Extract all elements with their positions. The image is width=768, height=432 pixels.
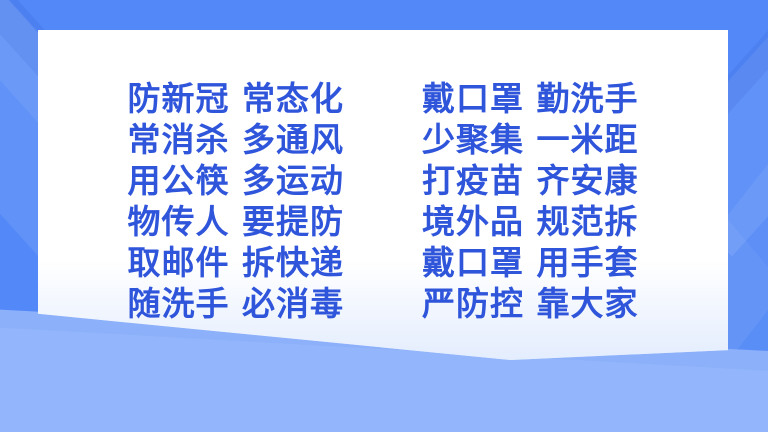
slogan-line: 取邮件 拆快递: [128, 242, 345, 283]
slogan-line: 物传人 要提防: [128, 201, 345, 242]
slogan-line: 少聚集 一米距: [422, 119, 639, 160]
slogan-line: 严防控 靠大家: [422, 283, 639, 324]
slogan-line: 境外品 规范拆: [422, 201, 639, 242]
slogan-line: 随洗手 必消毒: [128, 283, 345, 324]
slogan-line: 戴口罩 勤洗手: [422, 78, 639, 119]
slogan-line: 戴口罩 用手套: [422, 242, 639, 283]
poster-canvas: 防新冠 常态化 常消杀 多通风 用公筷 多运动 物传人 要提防 取邮件 拆快递 …: [0, 0, 768, 432]
slogan-grid: 防新冠 常态化 常消杀 多通风 用公筷 多运动 物传人 要提防 取邮件 拆快递 …: [38, 30, 728, 360]
slogan-line: 常消杀 多通风: [128, 119, 345, 160]
slogan-line: 防新冠 常态化: [128, 78, 345, 119]
slogan-line: 打疫苗 齐安康: [422, 160, 639, 201]
slogan-line: 用公筷 多运动: [128, 160, 345, 201]
slogan-column-right: 戴口罩 勤洗手 少聚集 一米距 打疫苗 齐安康 境外品 规范拆 戴口罩 用手套 …: [422, 78, 639, 324]
slogan-column-left: 防新冠 常态化 常消杀 多通风 用公筷 多运动 物传人 要提防 取邮件 拆快递 …: [128, 78, 345, 324]
